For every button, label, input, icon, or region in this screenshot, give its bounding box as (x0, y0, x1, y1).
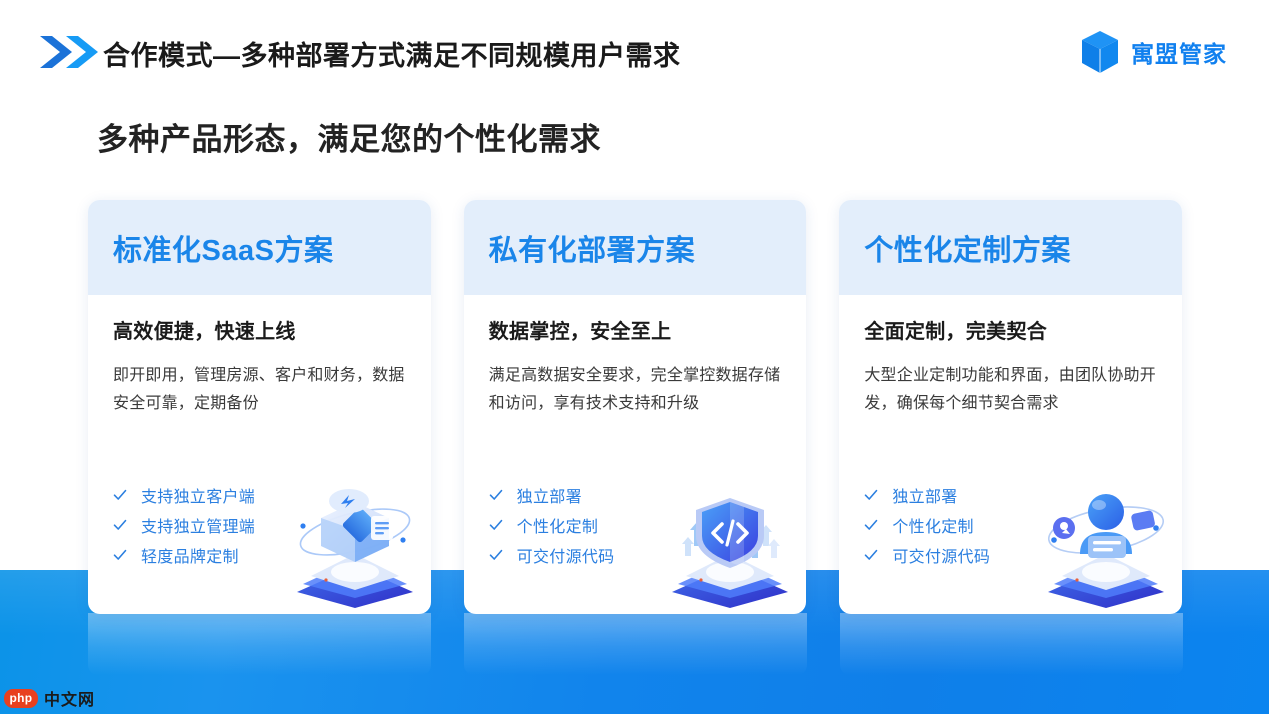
plan-cards-row: 标准化SaaS方案 高效便捷，快速上线 即开即用，管理房源、客户和财务，数据安全… (88, 200, 1182, 614)
card-subtitle: 数据掌控，安全至上 (489, 319, 782, 345)
check-icon (113, 518, 127, 532)
watermark: php 中文网 (4, 686, 95, 710)
card-description: 即开即用，管理房源、客户和财务，数据安全可靠，定期备份 (113, 362, 405, 418)
shield-code-platform-icon (660, 488, 800, 610)
card-title: 标准化SaaS方案 (113, 227, 333, 269)
card-header: 标准化SaaS方案 (88, 200, 431, 295)
feature-label: 支持独立客户端 (141, 483, 255, 507)
list-item: 独立部署 (864, 480, 990, 510)
slide-canvas: 合作模式—多种部署方式满足不同规模用户需求 寓盟管家 多种产品形态，满足您的个性… (0, 0, 1269, 714)
card-description: 大型企业定制功能和界面，由团队协助开发，确保每个细节契合需求 (864, 362, 1156, 418)
list-item: 个性化定制 (864, 510, 990, 540)
watermark-text: 中文网 (44, 686, 95, 710)
list-item: 可交付源代码 (864, 540, 990, 570)
feature-label: 轻度品牌定制 (141, 543, 239, 567)
card-feature-list: 独立部署 个性化定制 可交付源代码 (864, 480, 990, 570)
card-feature-list: 独立部署 个性化定制 可交付源代码 (489, 480, 615, 570)
check-icon (864, 518, 878, 532)
isometric-cube-platform-icon (285, 488, 425, 610)
plan-card-custom-solution[interactable]: 个性化定制方案 全面定制，完美契合 大型企业定制功能和界面，由团队协助开发，确保… (839, 200, 1182, 614)
card-body: 全面定制，完美契合 大型企业定制功能和界面，由团队协助开发，确保每个细节契合需求… (839, 295, 1182, 614)
list-item: 轻度品牌定制 (113, 540, 255, 570)
feature-label: 个性化定制 (892, 513, 974, 537)
php-badge-icon: php (4, 689, 38, 708)
check-icon (113, 488, 127, 502)
feature-label: 可交付源代码 (517, 543, 615, 567)
card-title: 个性化定制方案 (864, 227, 1071, 269)
brand-name: 寓盟管家 (1131, 35, 1227, 69)
card-feature-list: 支持独立客户端 支持独立管理端 轻度品牌定制 (113, 480, 255, 570)
check-icon (489, 518, 503, 532)
check-icon (489, 548, 503, 562)
avatar-person-platform-icon (1036, 488, 1176, 610)
card-subtitle: 全面定制，完美契合 (864, 319, 1157, 345)
card-description: 满足高数据安全要求，完全掌控数据存储和访问，享有技术支持和升级 (489, 362, 781, 418)
check-icon (864, 548, 878, 562)
plan-card-private-deployment[interactable]: 私有化部署方案 数据掌控，安全至上 满足高数据安全要求，完全掌控数据存储和访问，… (464, 200, 807, 614)
card-title: 私有化部署方案 (489, 227, 696, 269)
check-icon (864, 488, 878, 502)
page-title: 合作模式—多种部署方式满足不同规模用户需求 (103, 34, 681, 73)
feature-label: 独立部署 (892, 483, 957, 507)
check-icon (113, 548, 127, 562)
card-header: 私有化部署方案 (464, 200, 807, 295)
list-item: 支持独立管理端 (113, 510, 255, 540)
double-chevron-right-icon (38, 34, 102, 70)
card-header: 个性化定制方案 (839, 200, 1182, 295)
card-body: 高效便捷，快速上线 即开即用，管理房源、客户和财务，数据安全可靠，定期备份 支持… (88, 295, 431, 614)
plan-card-standard-saas[interactable]: 标准化SaaS方案 高效便捷，快速上线 即开即用，管理房源、客户和财务，数据安全… (88, 200, 431, 614)
feature-label: 可交付源代码 (892, 543, 990, 567)
list-item: 个性化定制 (489, 510, 615, 540)
feature-label: 个性化定制 (517, 513, 599, 537)
slide-header: 合作模式—多种部署方式满足不同规模用户需求 寓盟管家 (0, 0, 1269, 92)
brand-logo: 寓盟管家 (1080, 30, 1227, 74)
list-item: 独立部署 (489, 480, 615, 510)
feature-label: 支持独立管理端 (141, 513, 255, 537)
card-subtitle: 高效便捷，快速上线 (113, 319, 406, 345)
section-heading: 多种产品形态，满足您的个性化需求 (97, 114, 601, 159)
check-icon (489, 488, 503, 502)
list-item: 支持独立客户端 (113, 480, 255, 510)
list-item: 可交付源代码 (489, 540, 615, 570)
feature-label: 独立部署 (517, 483, 582, 507)
card-body: 数据掌控，安全至上 满足高数据安全要求，完全掌控数据存储和访问，享有技术支持和升… (464, 295, 807, 614)
cube-logo-icon (1080, 30, 1120, 74)
